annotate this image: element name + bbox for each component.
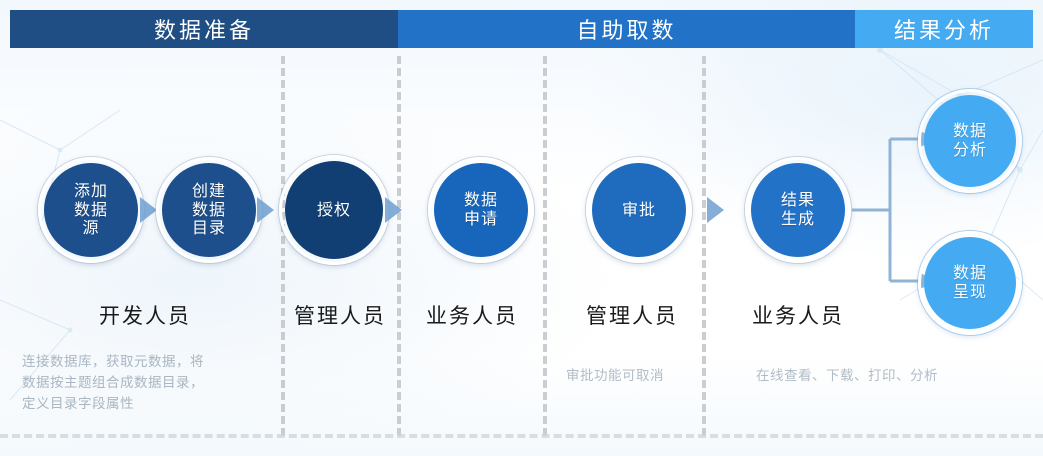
node-authorize[interactable]: 授权 bbox=[279, 155, 389, 265]
node-data-presentation[interactable]: 数据 呈现 bbox=[918, 231, 1022, 335]
role-label-business-1: 业务人员 bbox=[406, 300, 538, 330]
role-label-admin-2: 管理人员 bbox=[566, 300, 698, 330]
arrow-right-icon-4 bbox=[707, 197, 724, 223]
node-disc: 创建 数据 目录 bbox=[162, 163, 256, 257]
node-create-catalog[interactable]: 创建 数据 目录 bbox=[156, 157, 262, 263]
node-label: 添加 数据 源 bbox=[74, 182, 108, 239]
node-label: 数据 呈现 bbox=[953, 264, 987, 302]
node-disc: 数据 申请 bbox=[434, 163, 528, 257]
node-disc: 数据 呈现 bbox=[924, 237, 1016, 329]
node-approval[interactable]: 审批 bbox=[586, 157, 692, 263]
role-label-admin-1: 管理人员 bbox=[288, 300, 392, 330]
node-data-request[interactable]: 数据 申请 bbox=[428, 157, 534, 263]
description-line: 数据按主题组合成数据目录， bbox=[22, 373, 272, 394]
node-disc: 数据 分析 bbox=[924, 95, 1016, 187]
node-label: 数据 分析 bbox=[953, 122, 987, 160]
node-disc: 添加 数据 源 bbox=[44, 163, 138, 257]
node-label: 数据 申请 bbox=[464, 191, 498, 229]
node-label: 结果 生成 bbox=[781, 191, 815, 229]
column-divider-1 bbox=[281, 56, 285, 436]
diagram-canvas: 数据准备 自助取数 结果分析 添加 数据 源 创建 数据 目录 bbox=[0, 0, 1043, 456]
phase-band-data-preparation[interactable]: 数据准备 bbox=[10, 10, 398, 48]
role-label-developer: 开发人员 bbox=[20, 300, 270, 330]
phase-band-label: 数据准备 bbox=[154, 13, 254, 45]
phase-band-result-analysis[interactable]: 结果分析 bbox=[855, 10, 1033, 48]
description-approval: 审批功能可取消 bbox=[566, 366, 726, 387]
node-add-data-source[interactable]: 添加 数据 源 bbox=[38, 157, 144, 263]
column-divider-2 bbox=[397, 56, 401, 436]
node-label: 创建 数据 目录 bbox=[192, 182, 226, 239]
column-divider-3 bbox=[543, 56, 547, 436]
node-disc: 审批 bbox=[592, 163, 686, 257]
arrow-right-icon-2 bbox=[257, 197, 274, 223]
bottom-divider bbox=[0, 434, 1043, 438]
node-label: 审批 bbox=[622, 201, 656, 220]
description-line: 在线查看、下载、打印、分析 bbox=[756, 366, 1016, 387]
node-data-analysis[interactable]: 数据 分析 bbox=[918, 89, 1022, 193]
phase-band-self-service[interactable]: 自助取数 bbox=[398, 10, 855, 48]
description-data-preparation: 连接数据库，获取元数据，将 数据按主题组合成数据目录， 定义目录字段属性 bbox=[22, 352, 272, 415]
description-result: 在线查看、下载、打印、分析 bbox=[756, 366, 1016, 387]
description-line: 审批功能可取消 bbox=[566, 366, 726, 387]
node-label: 授权 bbox=[317, 201, 351, 220]
arrow-right-icon-1 bbox=[140, 197, 157, 223]
node-disc: 授权 bbox=[285, 161, 383, 259]
description-line: 定义目录字段属性 bbox=[22, 394, 272, 415]
phase-band-label: 自助取数 bbox=[576, 13, 676, 45]
role-label-business-2: 业务人员 bbox=[726, 300, 870, 330]
arrow-right-icon-3 bbox=[385, 197, 402, 223]
phase-band-label: 结果分析 bbox=[894, 13, 994, 45]
description-line: 连接数据库，获取元数据，将 bbox=[22, 352, 272, 373]
